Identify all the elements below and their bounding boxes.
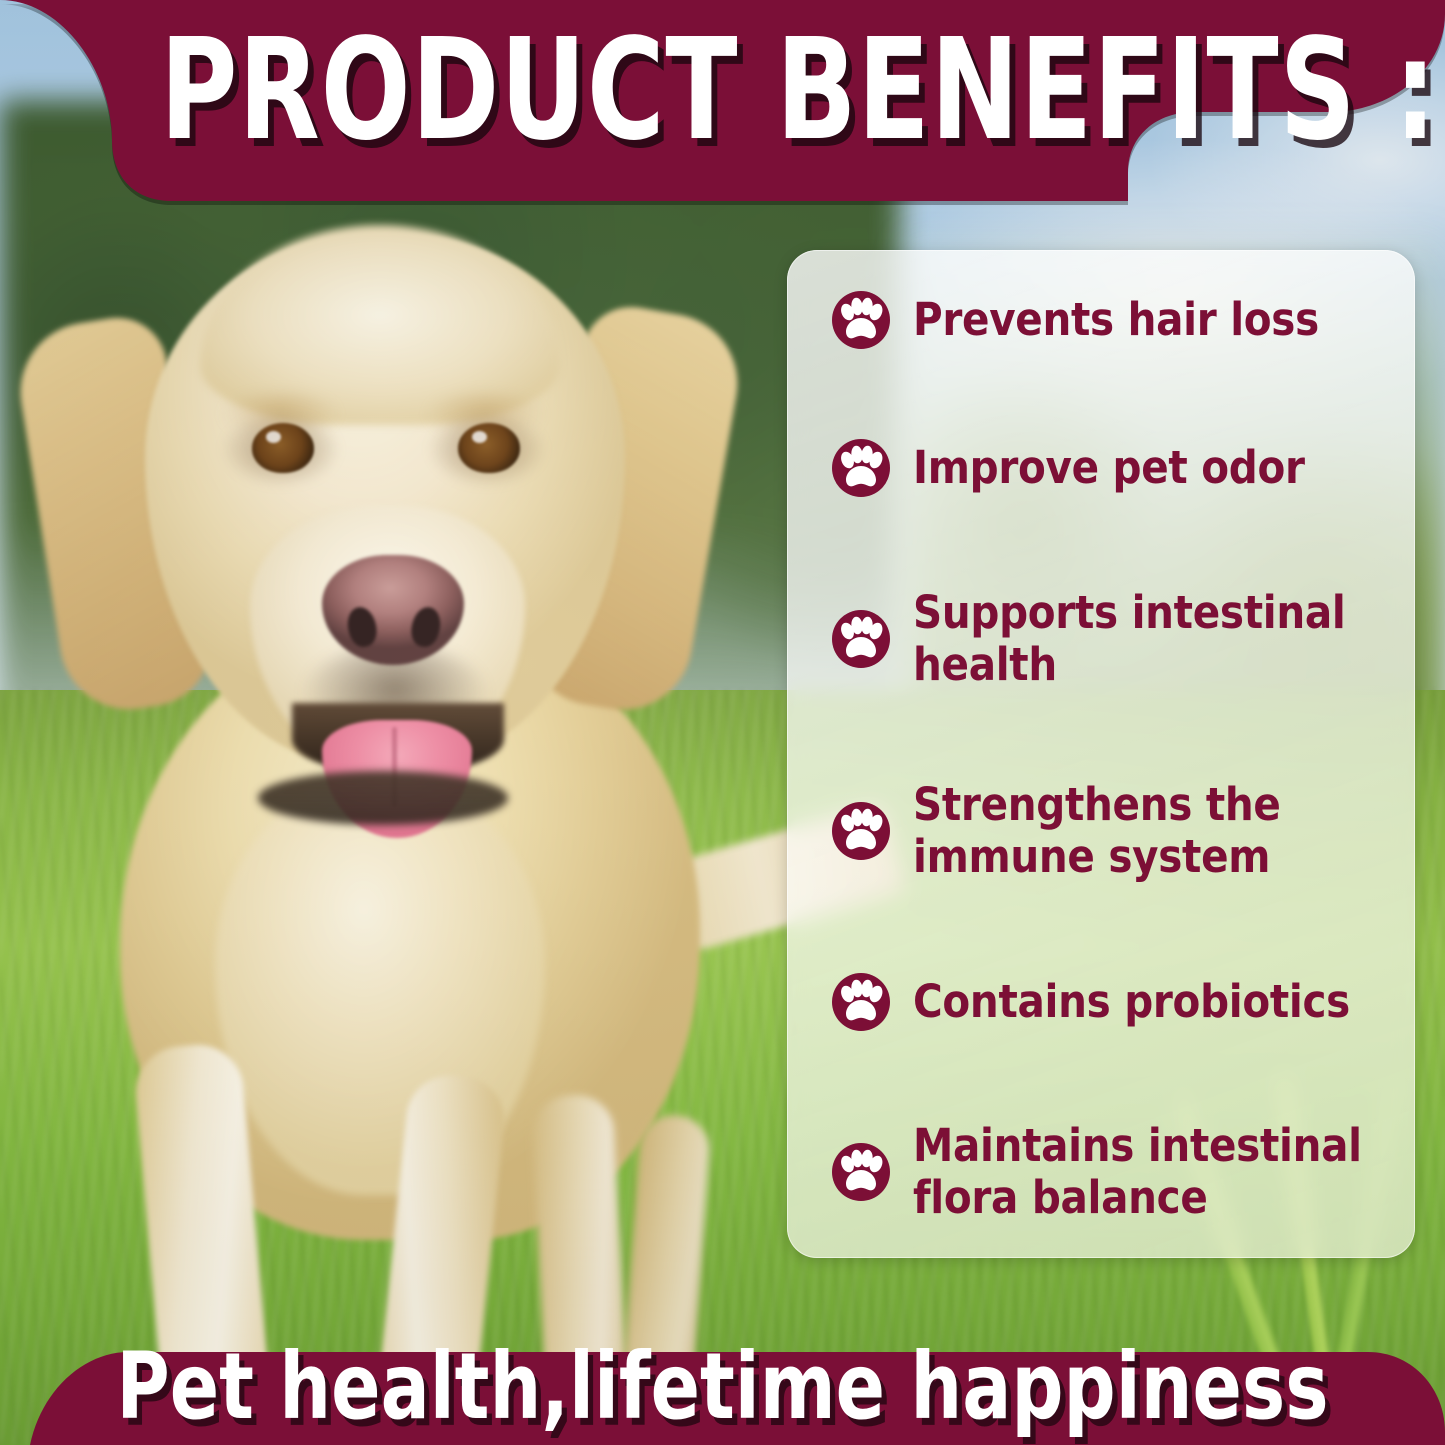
product-benefits-poster: PRODUCT BENEFITS : Prevents hair loss	[0, 0, 1445, 1445]
paw-icon	[831, 972, 891, 1032]
benefit-line-1: Supports intestinal	[913, 587, 1345, 639]
footer-tagline: Pet health,lifetime happiness	[87, 1334, 1359, 1444]
benefit-label: Contains probiotics	[913, 976, 1350, 1028]
benefit-line-1: Improve pet odor	[913, 442, 1305, 494]
paw-icon	[831, 290, 891, 350]
benefit-line-2: immune system	[913, 831, 1281, 883]
benefit-item-3: Supports intestinal health	[831, 587, 1389, 691]
benefit-label: Maintains intestinal flora balance	[913, 1120, 1362, 1224]
benefit-line-2: flora balance	[913, 1172, 1362, 1224]
benefit-line-1: Strengthens the	[913, 779, 1281, 831]
benefit-item-1: Prevents hair loss	[831, 290, 1389, 350]
benefit-label: Prevents hair loss	[913, 294, 1319, 346]
benefit-label: Supports intestinal health	[913, 587, 1345, 691]
paw-icon	[831, 1142, 891, 1202]
benefit-label: Strengthens the immune system	[913, 779, 1281, 883]
benefit-label: Improve pet odor	[913, 442, 1305, 494]
paw-icon	[831, 609, 891, 669]
benefit-line-1: Contains probiotics	[913, 976, 1350, 1028]
benefits-panel: Prevents hair loss Improve pet odor	[787, 250, 1415, 1258]
page-title: PRODUCT BENEFITS :	[160, 16, 1000, 166]
paw-icon	[831, 801, 891, 861]
benefit-item-4: Strengthens the immune system	[831, 779, 1389, 883]
benefit-item-2: Improve pet odor	[831, 438, 1389, 498]
paw-icon	[831, 438, 891, 498]
benefit-line-1: Prevents hair loss	[913, 294, 1319, 346]
benefit-item-6: Maintains intestinal flora balance	[831, 1120, 1389, 1224]
benefit-item-5: Contains probiotics	[831, 972, 1389, 1032]
benefit-line-1: Maintains intestinal	[913, 1120, 1362, 1172]
benefit-line-2: health	[913, 639, 1345, 691]
